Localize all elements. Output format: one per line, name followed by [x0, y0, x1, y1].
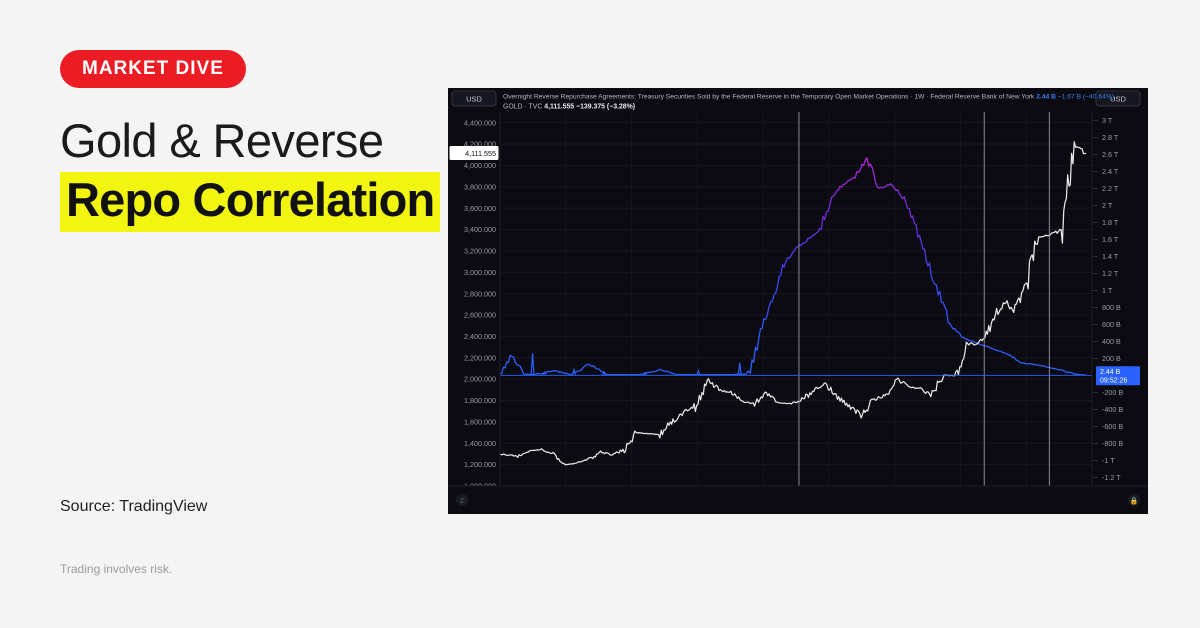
right-axis-tick-label: 3 T	[1102, 116, 1113, 125]
repo-price-label-time: 09:52:26	[1100, 377, 1127, 384]
left-axis-tick-label: 1,200.000	[464, 460, 496, 469]
headline-line-2: Repo Correlation	[60, 172, 440, 232]
legend-gold-symbol: GOLD · TVC	[503, 104, 544, 111]
left-axis-tick-label: 1,800.000	[464, 396, 496, 405]
left-content-panel: MARKET DIVE Gold & Reverse Repo Correlat…	[0, 0, 448, 628]
left-axis-tick-label: 3,400.000	[464, 225, 496, 234]
right-axis-tick-label: -1 T	[1102, 456, 1115, 465]
timezone-icon-glyph: Z	[460, 499, 464, 505]
legend-gold-last: 4,111.555	[544, 104, 576, 111]
right-axis-tick-label: -400 B	[1102, 405, 1123, 414]
left-axis-tick-label: 1,600.000	[464, 418, 496, 427]
chart-canvas[interactable]: Mon 29 Mar '21Mon 12 Feb '24Mon 11 Aug '…	[448, 88, 1148, 514]
risk-disclaimer: Trading involves risk.	[60, 562, 172, 576]
legend-repo-change: −1.67 B (−40.64%)	[1058, 94, 1114, 101]
right-axis-tick-label: 2.6 T	[1102, 150, 1119, 159]
gold-price-label: 4,111.555	[465, 149, 496, 158]
legend-repo-last: 2.44 B	[1036, 94, 1058, 101]
left-axis-tick-label: 2,200.000	[464, 353, 496, 362]
chart-background	[448, 88, 1148, 514]
category-badge: MARKET DIVE	[60, 50, 246, 88]
right-axis-tick-label: 600 B	[1102, 320, 1121, 329]
right-axis-tick-label: 200 B	[1102, 354, 1121, 363]
right-axis-tick-label: 2.4 T	[1102, 167, 1119, 176]
right-axis-tick-label: 400 B	[1102, 337, 1121, 346]
legend-row-gold[interactable]: GOLD · TVC 4,111.555 −139.375 (−3.28%)	[503, 104, 635, 111]
right-axis-tick-label: 1 T	[1102, 286, 1113, 295]
legend-row-reverse-repo[interactable]: Overnight Reverse Repurchase Agreements:…	[503, 94, 1114, 101]
right-axis-tick-label: 2 T	[1102, 201, 1113, 210]
right-axis-tick-label: 1.6 T	[1102, 235, 1119, 244]
left-axis-tick-label: 3,800.000	[464, 182, 496, 191]
left-axis-tick-label: 3,600.000	[464, 204, 496, 213]
left-axis-tick-label: 4,000.000	[464, 161, 496, 170]
currency-badge-label-left: USD	[466, 95, 482, 104]
right-axis-tick-label: 800 B	[1102, 303, 1121, 312]
left-axis-tick-label: 4,400.000	[464, 118, 496, 127]
headline-line-2-wrapper: Repo Correlation	[60, 172, 460, 232]
legend-gold-change: −139.375 (−3.28%)	[576, 104, 635, 111]
right-axis-tick-label: -200 B	[1102, 388, 1123, 397]
right-axis-tick-label: 2.8 T	[1102, 133, 1119, 142]
poster-root: MARKET DIVE Gold & Reverse Repo Correlat…	[0, 0, 1200, 628]
right-axis-tick-label: 2.2 T	[1102, 184, 1119, 193]
right-axis-tick-label: 1.2 T	[1102, 269, 1119, 278]
left-axis-tick-label: 2,800.000	[464, 289, 496, 298]
legend-repo-title: Overnight Reverse Repurchase Agreements:…	[503, 94, 1036, 101]
left-axis-tick-label: 2,000.000	[464, 375, 496, 384]
lock-icon-glyph: 🔒	[1130, 497, 1139, 505]
right-axis-tick-label: 1.8 T	[1102, 218, 1119, 227]
time-axis-bar	[448, 486, 1148, 514]
right-axis-tick-label: 1.4 T	[1102, 252, 1119, 261]
left-axis-tick-label: 3,000.000	[464, 268, 496, 277]
source-attribution: Source: TradingView	[60, 498, 207, 516]
headline-line-1: Gold & Reverse	[60, 116, 460, 166]
page-title: Gold & Reverse Repo Correlation	[60, 116, 460, 232]
repo-price-label-value: 2.44 B	[1100, 369, 1121, 376]
left-axis-tick-label: 2,400.000	[464, 332, 496, 341]
left-axis-tick-label: 2,600.000	[464, 311, 496, 320]
right-axis-tick-label: -800 B	[1102, 439, 1123, 448]
left-axis-tick-label: 3,200.000	[464, 247, 496, 256]
right-axis-tick-label: -1.2 T	[1102, 473, 1121, 482]
left-axis-tick-label: 1,400.000	[464, 439, 496, 448]
right-axis-tick-label: -600 B	[1102, 422, 1123, 431]
tradingview-chart[interactable]: Mon 29 Mar '21Mon 12 Feb '24Mon 11 Aug '…	[448, 88, 1148, 514]
